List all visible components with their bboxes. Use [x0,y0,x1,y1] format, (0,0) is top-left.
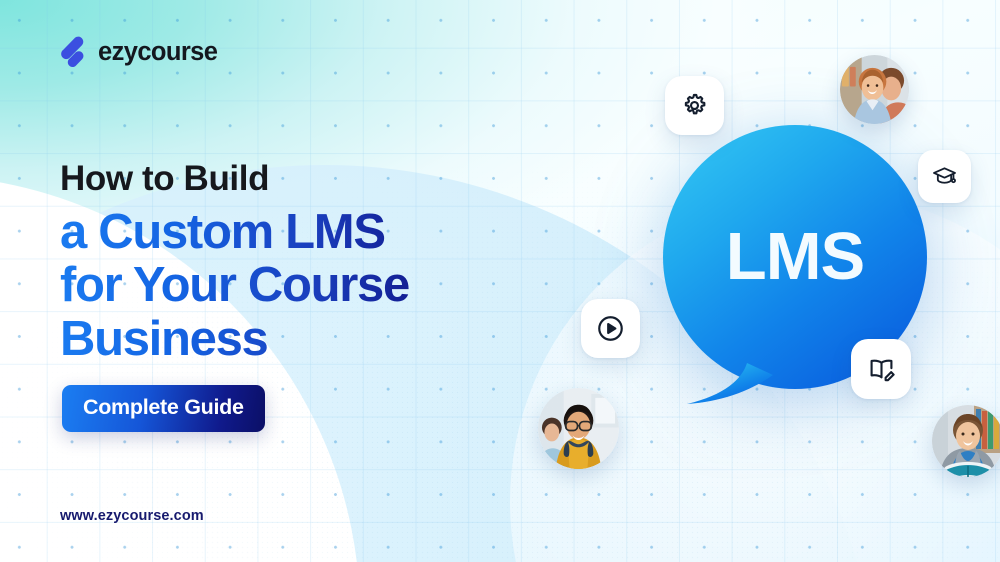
play-circle-icon [596,314,625,343]
headline-line-2: a Custom LMS [60,206,580,259]
gear-icon-card[interactable] [665,76,724,135]
headline-gradient-lines: a Custom LMS for Your Course Business [60,206,580,366]
play-icon-card[interactable] [581,299,640,358]
avatar [840,55,909,124]
headline-line-3: for Your Course [60,259,580,312]
graduation-cap-icon-card[interactable] [918,150,971,203]
brand-logo[interactable]: ezycourse [60,36,217,70]
headline-line-4: Business [60,313,580,366]
gear-icon [681,92,708,119]
graduation-cap-icon [932,164,957,189]
avatar [538,388,619,469]
avatar [932,405,1000,477]
headline-block: How to Build a Custom LMS for Your Cours… [60,160,580,366]
headline-line-1: How to Build [60,160,580,198]
ezycourse-z-mark-icon [60,36,87,70]
promo-banner: ezycourse How to Build a Custom LMS for … [0,0,1000,562]
brand-logo-text: ezycourse [98,40,217,66]
book-edit-icon-card[interactable] [851,339,911,399]
complete-guide-badge[interactable]: Complete Guide [62,385,265,432]
book-edit-icon [867,355,896,384]
website-url[interactable]: www.ezycourse.com [60,508,204,524]
